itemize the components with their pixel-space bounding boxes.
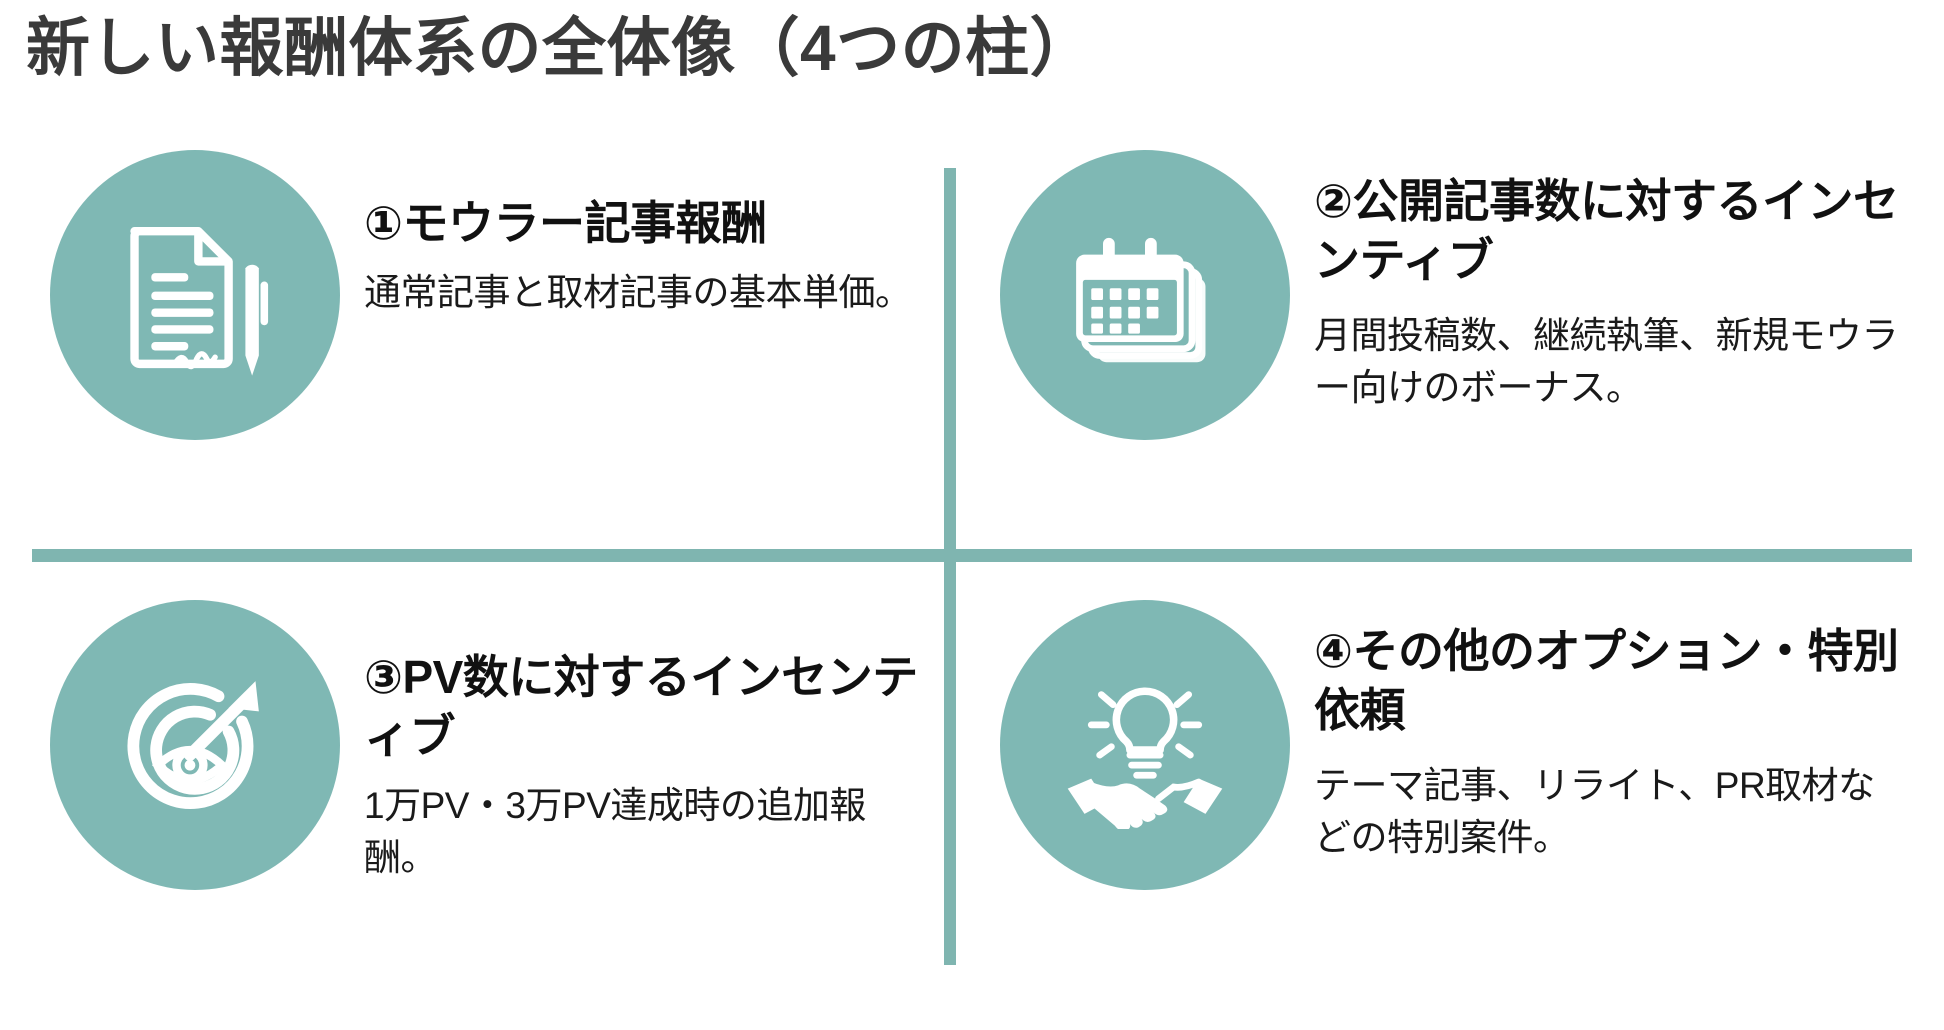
pillar-body-4: テーマ記事、リライト、PR取材などの特別案件。 bbox=[1314, 760, 1900, 865]
pillar-card-1: ①モウラー記事報酬 通常記事と取材記事の基本単価。 bbox=[50, 150, 930, 440]
pillar-heading-3: ③PV数に対するインセンティブ bbox=[364, 648, 930, 766]
pillar-body-3: 1万PV・3万PV達成時の追加報酬。 bbox=[364, 780, 930, 885]
calendar-stack-icon bbox=[1061, 211, 1229, 379]
document-pen-icon bbox=[111, 211, 279, 379]
pillar-text-3: ③PV数に対するインセンティブ 1万PV・3万PV達成時の追加報酬。 bbox=[340, 600, 930, 885]
pillar-card-3: ③PV数に対するインセンティブ 1万PV・3万PV達成時の追加報酬。 bbox=[50, 600, 930, 890]
target-eye-arrow-icon bbox=[111, 661, 279, 829]
pillar-body-1: 通常記事と取材記事の基本単価。 bbox=[364, 267, 930, 320]
pillar-text-2: ②公開記事数に対するインセンティブ 月間投稿数、継続執筆、新規モウラー向けのボー… bbox=[1290, 150, 1900, 415]
pillar-card-4: ④その他のオプション・特別依頼 テーマ記事、リライト、PR取材などの特別案件。 bbox=[1000, 600, 1900, 890]
pillar-card-2: ②公開記事数に対するインセンティブ 月間投稿数、継続執筆、新規モウラー向けのボー… bbox=[1000, 150, 1900, 440]
page-title: 新しい報酬体系の全体像（4つの柱） bbox=[26, 12, 1726, 86]
pillar-text-1: ①モウラー記事報酬 通常記事と取材記事の基本単価。 bbox=[340, 150, 930, 319]
lightbulb-handshake-icon bbox=[1061, 661, 1229, 829]
horizontal-divider bbox=[32, 549, 1912, 562]
pillar-icon-badge-2 bbox=[1000, 150, 1290, 440]
pillar-heading-2: ②公開記事数に対するインセンティブ bbox=[1314, 172, 1900, 290]
pillar-body-2: 月間投稿数、継続執筆、新規モウラー向けのボーナス。 bbox=[1314, 310, 1900, 415]
pillar-text-4: ④その他のオプション・特別依頼 テーマ記事、リライト、PR取材などの特別案件。 bbox=[1290, 600, 1900, 865]
pillar-icon-badge-3 bbox=[50, 600, 340, 890]
vertical-divider bbox=[944, 168, 956, 965]
pillar-heading-4: ④その他のオプション・特別依頼 bbox=[1314, 622, 1900, 740]
infographic-slide: 新しい報酬体系の全体像（4つの柱） bbox=[0, 0, 1944, 1030]
pillar-icon-badge-4 bbox=[1000, 600, 1290, 890]
pillar-heading-1: ①モウラー記事報酬 bbox=[364, 194, 930, 253]
pillar-icon-badge-1 bbox=[50, 150, 340, 440]
